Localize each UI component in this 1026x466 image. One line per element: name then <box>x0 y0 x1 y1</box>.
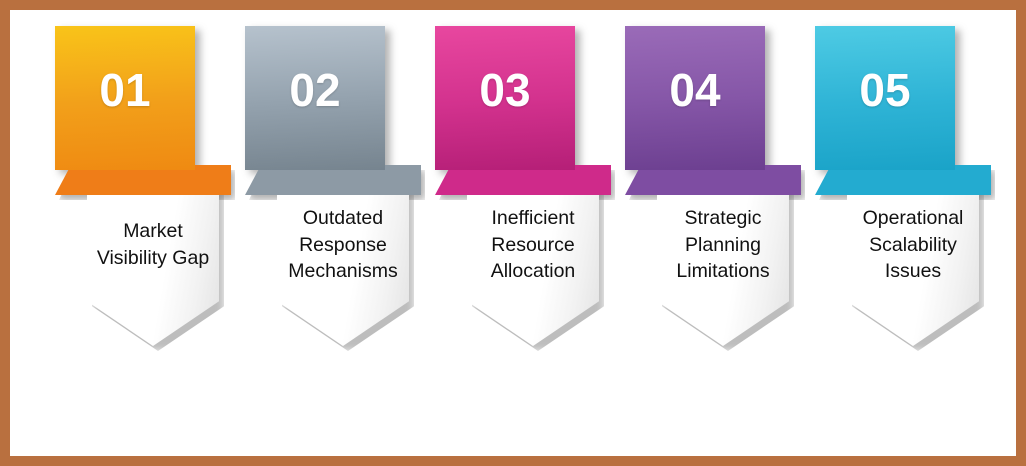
card-title-text: Operational Scalability Issues <box>847 186 979 304</box>
step-card-04[interactable]: 04Strategic Planning Limitations <box>625 10 825 456</box>
step-card-05[interactable]: 05Operational Scalability Issues <box>815 10 1015 456</box>
card-number-label: 02 <box>245 26 385 154</box>
step-card-02[interactable]: 02Outdated Response Mechanisms <box>245 10 445 456</box>
image-border-frame: 01Market Visibility Gap02Outdated Respon… <box>0 0 1026 466</box>
step-card-01[interactable]: 01Market Visibility Gap <box>55 10 255 456</box>
card-title-text: Market Visibility Gap <box>87 186 219 304</box>
card-number-label: 04 <box>625 26 765 154</box>
card-number-label: 01 <box>55 26 195 154</box>
card-title-text: Strategic Planning Limitations <box>657 186 789 304</box>
step-card-03[interactable]: 03Inefficient Resource Allocation <box>435 10 635 456</box>
card-number-label: 05 <box>815 26 955 154</box>
infographic-canvas: 01Market Visibility Gap02Outdated Respon… <box>10 10 1016 456</box>
card-number-label: 03 <box>435 26 575 154</box>
card-title-text: Outdated Response Mechanisms <box>277 186 409 304</box>
card-title-text: Inefficient Resource Allocation <box>467 186 599 304</box>
